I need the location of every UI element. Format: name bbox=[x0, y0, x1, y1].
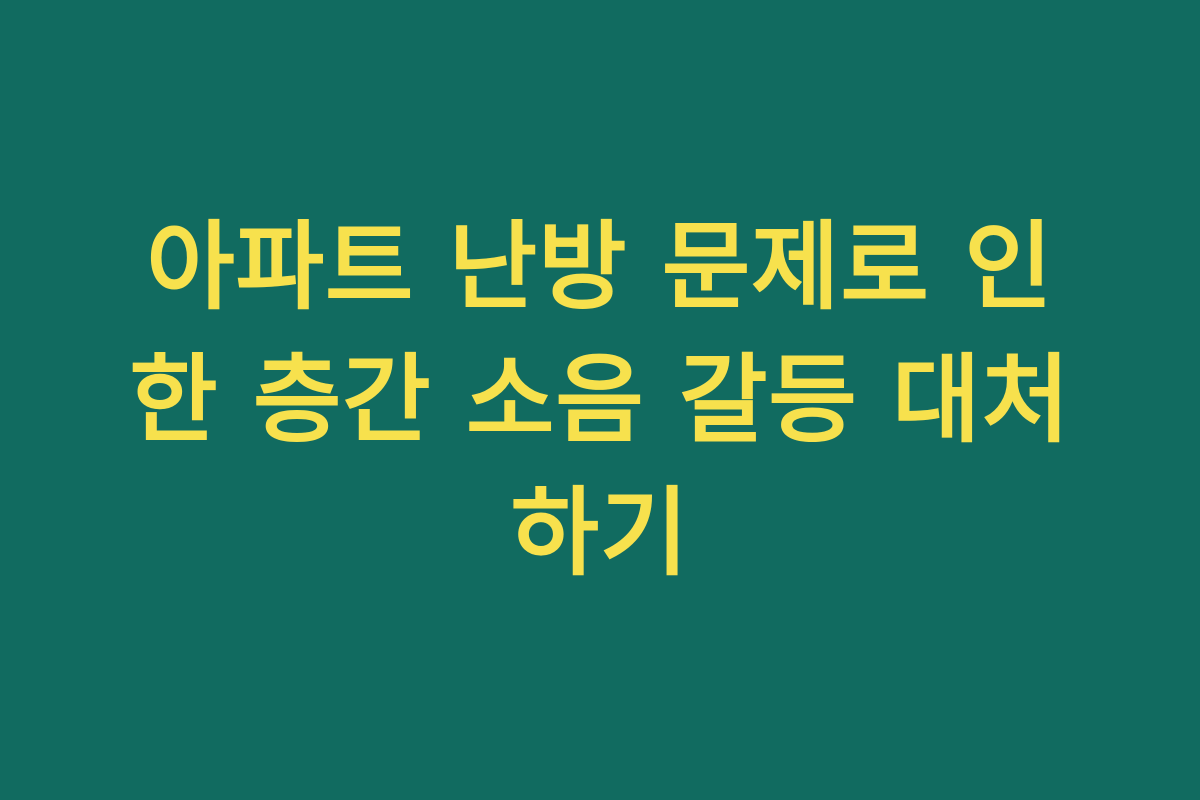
title-card: 아파트 난방 문제로 인 한 층간 소음 갈등 대처 하기 bbox=[0, 0, 1200, 800]
headline-line-1: 아파트 난방 문제로 인 bbox=[95, 201, 1105, 334]
headline-line-2: 한 층간 소음 갈등 대처 bbox=[95, 334, 1105, 467]
headline-line-3: 하기 bbox=[95, 467, 1105, 600]
headline-block: 아파트 난방 문제로 인 한 층간 소음 갈등 대처 하기 bbox=[95, 201, 1105, 600]
